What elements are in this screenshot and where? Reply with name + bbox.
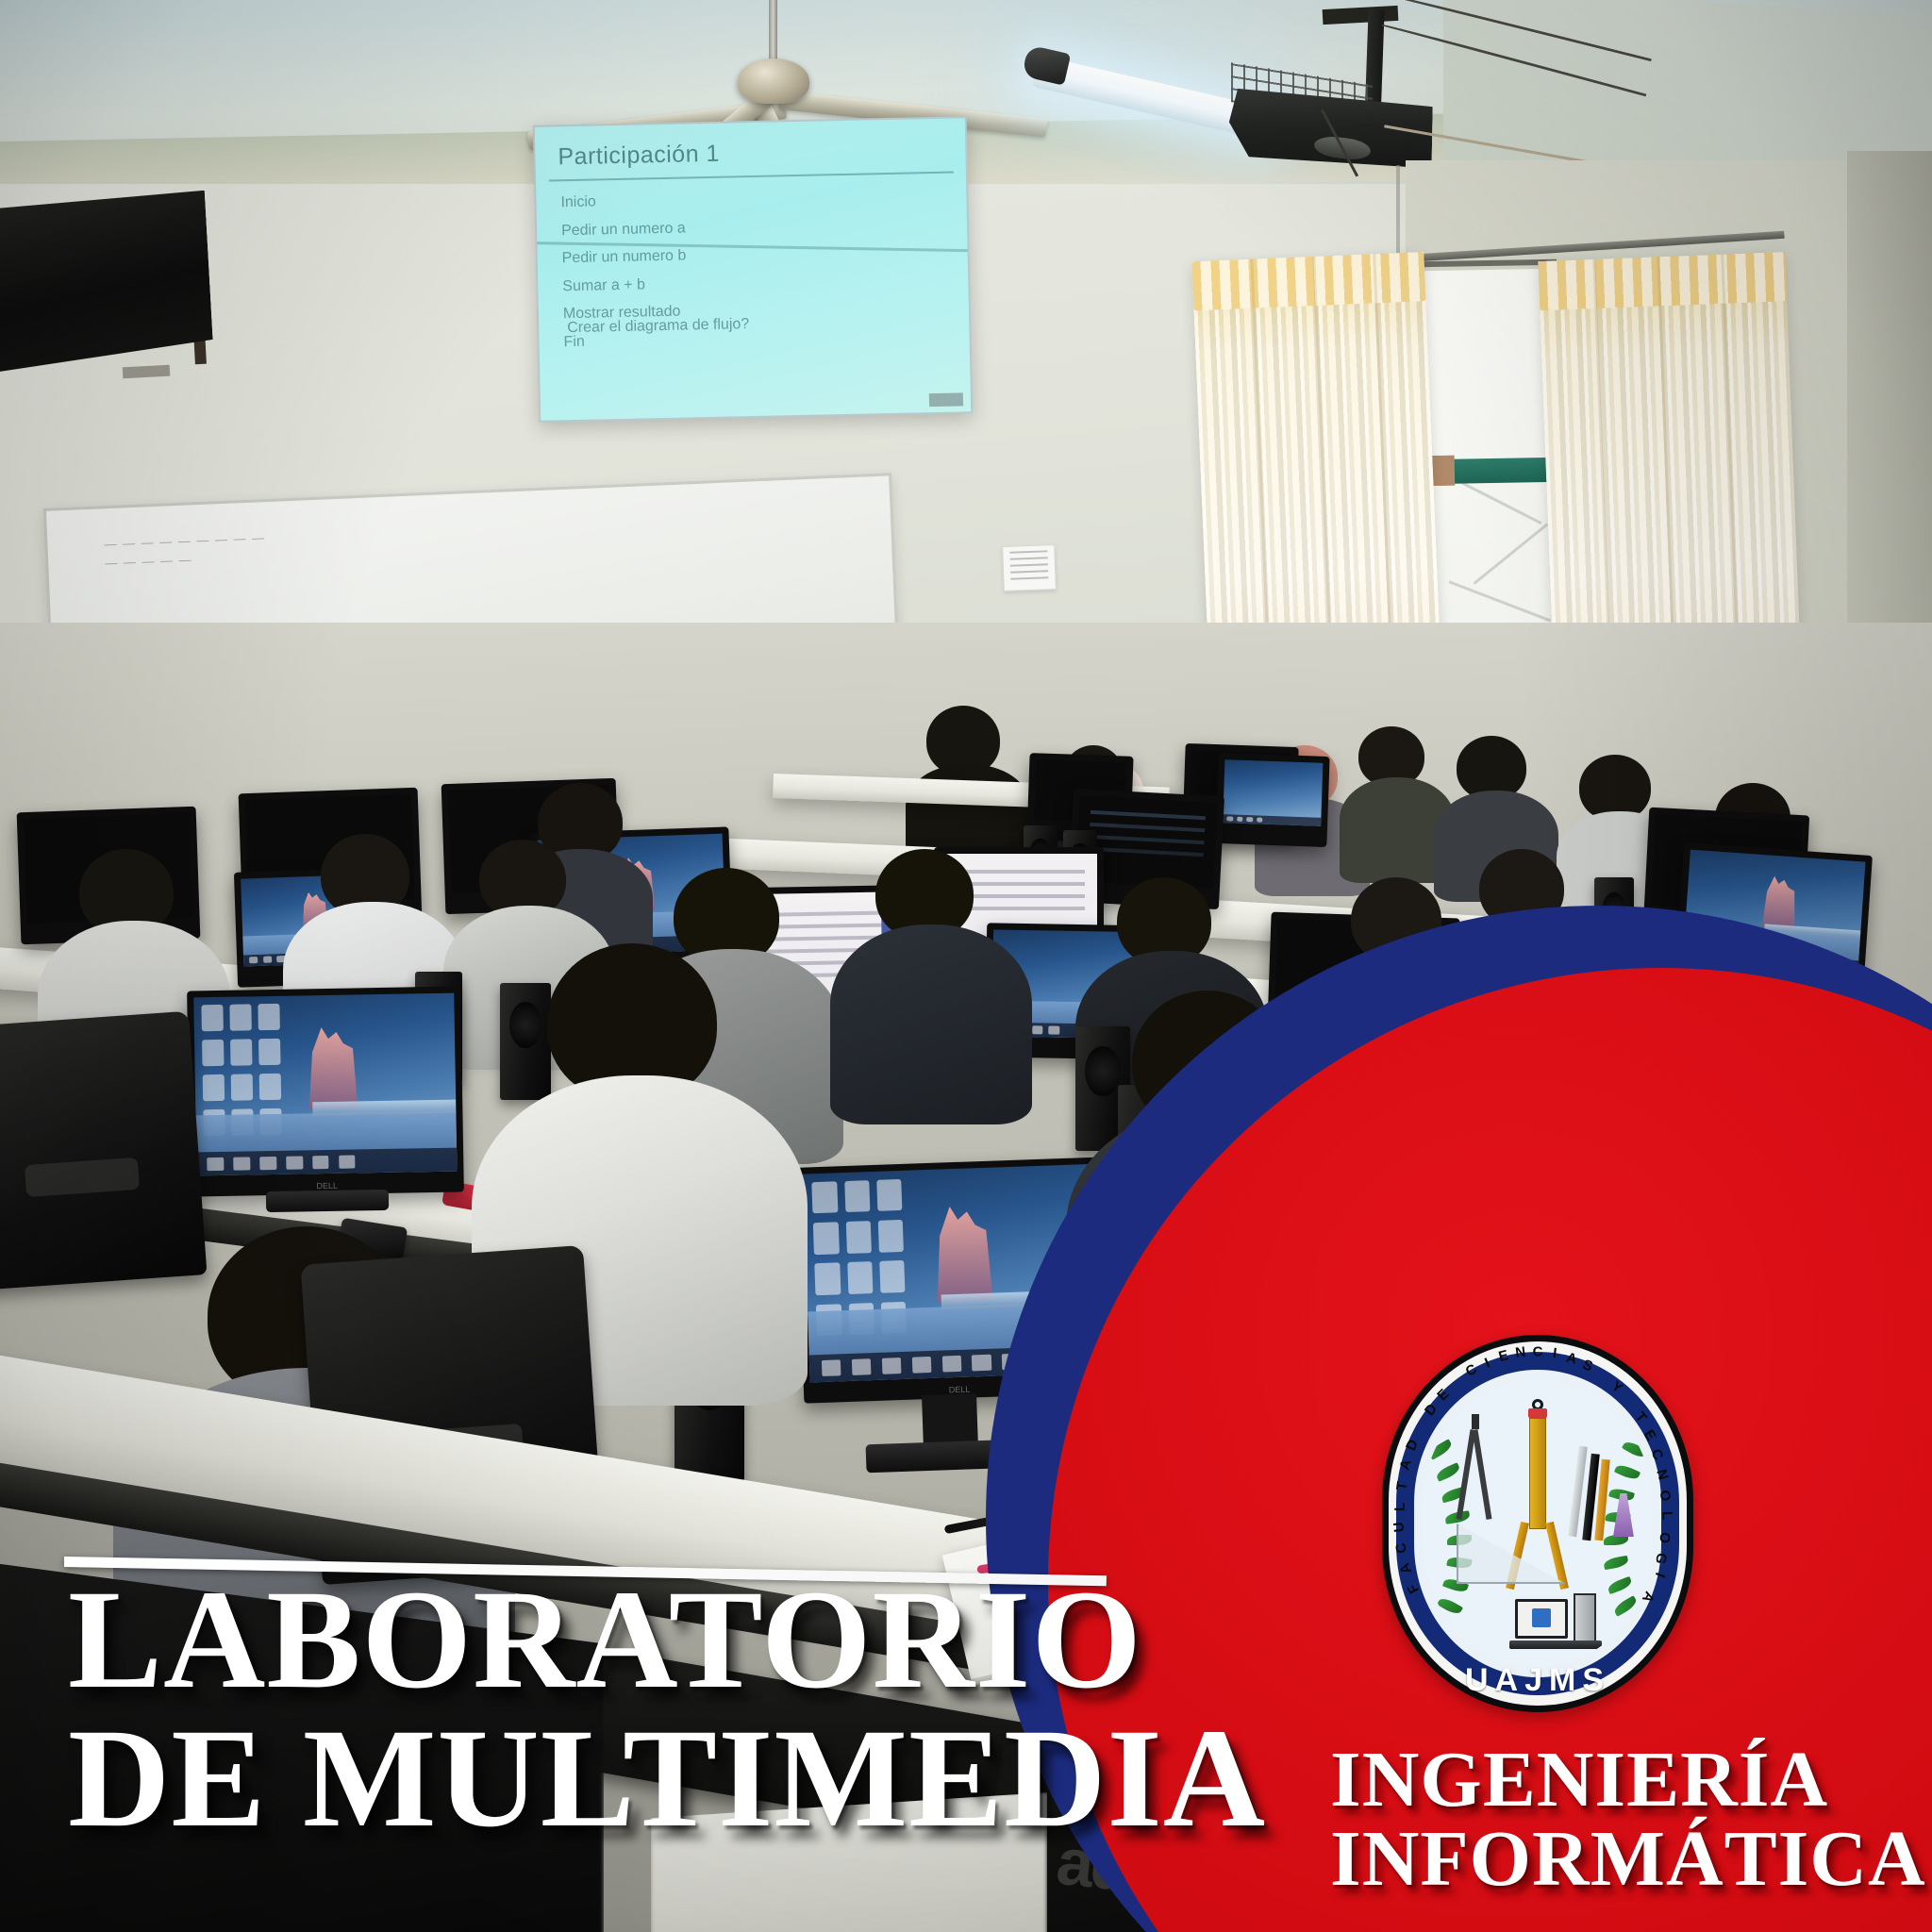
monitor[interactable] <box>1215 753 1329 847</box>
crest-arc-char: N <box>1514 1344 1526 1361</box>
survey-tripod-column <box>1529 1418 1546 1529</box>
monitor-base <box>266 1190 389 1212</box>
ceiling-fan-motor <box>738 58 809 104</box>
program-line-1: INGENIERÍA <box>1330 1740 1932 1820</box>
poster-root: — — — — — — — — — — — — — — Participació… <box>0 0 1932 1932</box>
crest-arc-char: F <box>1405 1581 1423 1596</box>
compass-handle <box>1472 1414 1479 1429</box>
crest-arc-char: L <box>1391 1503 1407 1512</box>
crest-arc-char: N <box>1653 1468 1671 1482</box>
curtain-tab-header <box>1538 252 1787 310</box>
crest-arc-char: E <box>1497 1347 1510 1365</box>
crest-acronym: UAJMS <box>1382 1662 1693 1699</box>
crest-arc-char: C <box>1647 1447 1666 1463</box>
crest-arc-char: C <box>1533 1344 1543 1360</box>
crest-arc-char: D <box>1403 1438 1422 1454</box>
crest-arc-char: A <box>1397 1457 1415 1472</box>
crest-arc-char: G <box>1652 1551 1670 1565</box>
chair[interactable] <box>0 1011 207 1291</box>
title-line-2: DE MULTIMEDIA <box>68 1709 1294 1848</box>
projection-screen[interactable]: Participación 1 Inicio Pedir un numero a… <box>533 116 973 423</box>
wallpaper-bridge <box>312 1100 456 1117</box>
survey-level-head <box>1528 1408 1547 1418</box>
crest-arc-char: I <box>1482 1355 1491 1371</box>
crest-arc-char: S <box>1580 1357 1595 1375</box>
crest-inner-field <box>1423 1380 1653 1667</box>
page-title: LABORATORIO DE MULTIMEDIA <box>68 1571 1294 1848</box>
crest-arc-char: E <box>1434 1386 1452 1404</box>
slide-title-rule <box>549 172 954 182</box>
crest-arc-char: C <box>1392 1541 1410 1555</box>
crest-arc-char: C <box>1463 1361 1480 1380</box>
crest-arc-char: A <box>1564 1349 1578 1367</box>
crest-arc-char: L <box>1658 1511 1674 1521</box>
wall-notice-paper[interactable] <box>1002 544 1057 591</box>
crest-keyboard <box>1509 1641 1602 1649</box>
slide-title: Participación 1 <box>558 141 720 172</box>
faculty-crest-logo: FACULTAD DE CIENCIAS Y TECNOLOGIA <box>1382 1335 1693 1712</box>
crest-arc-char: I <box>1552 1345 1557 1361</box>
wallpaper-castle <box>298 1026 367 1109</box>
crest-arc-char: T <box>1393 1480 1410 1491</box>
taskbar[interactable] <box>196 1148 457 1175</box>
taskbar[interactable] <box>1223 814 1321 825</box>
crest-arc-char: T <box>1632 1409 1650 1426</box>
monitor-foreground[interactable]: DELL <box>187 986 464 1196</box>
slide-page-badge <box>929 392 963 407</box>
monitor-screen <box>193 993 457 1176</box>
crest-monitor-screen <box>1532 1608 1551 1627</box>
crest-arc-char: U <box>1391 1522 1407 1534</box>
crest-computer-tower <box>1574 1593 1596 1644</box>
title-line-1: LABORATORIO <box>68 1571 1294 1709</box>
crest-arc-char: D <box>1422 1401 1441 1419</box>
monitor-screen <box>1223 759 1323 826</box>
whiteboard-writing: — — — — — — — — — — — — — — <box>104 524 378 572</box>
crest-arc-char: O <box>1656 1531 1673 1543</box>
ceiling-fan-rod <box>769 0 777 66</box>
program-line-2: INFORMÁTICA <box>1330 1820 1932 1899</box>
monitor-brand-label: DELL <box>316 1181 338 1191</box>
projected-slide: Participación 1 Inicio Pedir un numero a… <box>535 118 971 420</box>
crest-arc-char: I <box>1652 1571 1668 1580</box>
program-name: INGENIERÍA INFORMÁTICA <box>1330 1740 1932 1899</box>
crest-arc-char: O <box>1657 1489 1674 1502</box>
crest-arc-char: A <box>1396 1560 1415 1575</box>
curtain-tab-header <box>1191 252 1425 310</box>
crest-arc-char: Y <box>1608 1378 1625 1397</box>
